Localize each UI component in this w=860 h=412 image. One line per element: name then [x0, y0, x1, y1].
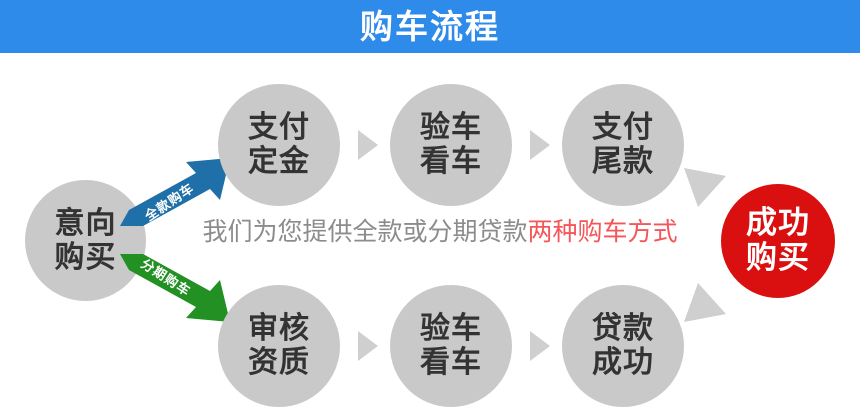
header-bar: 购车流程	[0, 0, 860, 53]
node-top-inspect-car-line2: 看车	[420, 145, 482, 179]
node-top-inspect-car-line1: 验车	[420, 111, 482, 145]
node-start-intent-line2: 购买	[55, 241, 117, 275]
connector-top-to-success-icon	[683, 167, 729, 213]
node-end-success-line2: 购买	[746, 241, 810, 276]
flow-canvas: 意向 购买 全款购车 分期购车 支付 定金 验车 看车	[0, 53, 860, 412]
node-end-success[interactable]: 成功 购买	[721, 184, 835, 298]
node-bottom-loan-approved-line2: 成功	[592, 346, 654, 380]
node-top-pay-deposit-line2: 定金	[248, 145, 310, 179]
node-top-pay-deposit[interactable]: 支付 定金	[218, 84, 340, 206]
node-bottom-review-qualification[interactable]: 审核 资质	[218, 285, 340, 407]
page-title: 购车流程	[0, 0, 860, 53]
node-bottom-inspect-car[interactable]: 验车 看车	[390, 285, 512, 407]
connector-top-to-success-shape	[683, 167, 729, 213]
connector-bottom-2-icon	[530, 331, 550, 361]
connector-top-1-icon	[358, 130, 378, 160]
node-top-pay-balance-line2: 尾款	[592, 145, 654, 179]
node-top-pay-deposit-line1: 支付	[248, 111, 310, 145]
connector-bottom-to-success-icon	[683, 278, 729, 324]
center-caption: 我们为您提供全款或分期贷款两种购车方式	[180, 220, 700, 245]
node-bottom-review-qualification-line1: 审核	[248, 312, 310, 346]
node-top-pay-balance[interactable]: 支付 尾款	[562, 84, 684, 206]
connector-bottom-to-success-shape	[683, 278, 729, 324]
node-bottom-inspect-car-line2: 看车	[420, 346, 482, 380]
purchase-flow-infographic: 购车流程 意向 购买 全款购车 分期购车 支付 定金	[0, 0, 860, 412]
node-bottom-loan-approved-line1: 贷款	[592, 312, 654, 346]
branch-arrow-installment-shape	[112, 246, 234, 324]
connector-bottom-1-icon	[358, 331, 378, 361]
center-caption-red-text: 两种购车方式	[528, 218, 678, 246]
node-bottom-review-qualification-line2: 资质	[248, 346, 310, 380]
center-caption-gray-text: 我们为您提供全款或分期贷款	[202, 218, 527, 246]
node-start-intent-line1: 意向	[55, 207, 117, 241]
branch-arrow-installment[interactable]: 分期购车	[112, 246, 234, 324]
node-bottom-inspect-car-line1: 验车	[420, 312, 482, 346]
node-end-success-line1: 成功	[746, 206, 810, 241]
node-top-inspect-car[interactable]: 验车 看车	[390, 84, 512, 206]
node-top-pay-balance-line1: 支付	[592, 111, 654, 145]
node-bottom-loan-approved[interactable]: 贷款 成功	[562, 285, 684, 407]
connector-top-2-icon	[530, 130, 550, 160]
